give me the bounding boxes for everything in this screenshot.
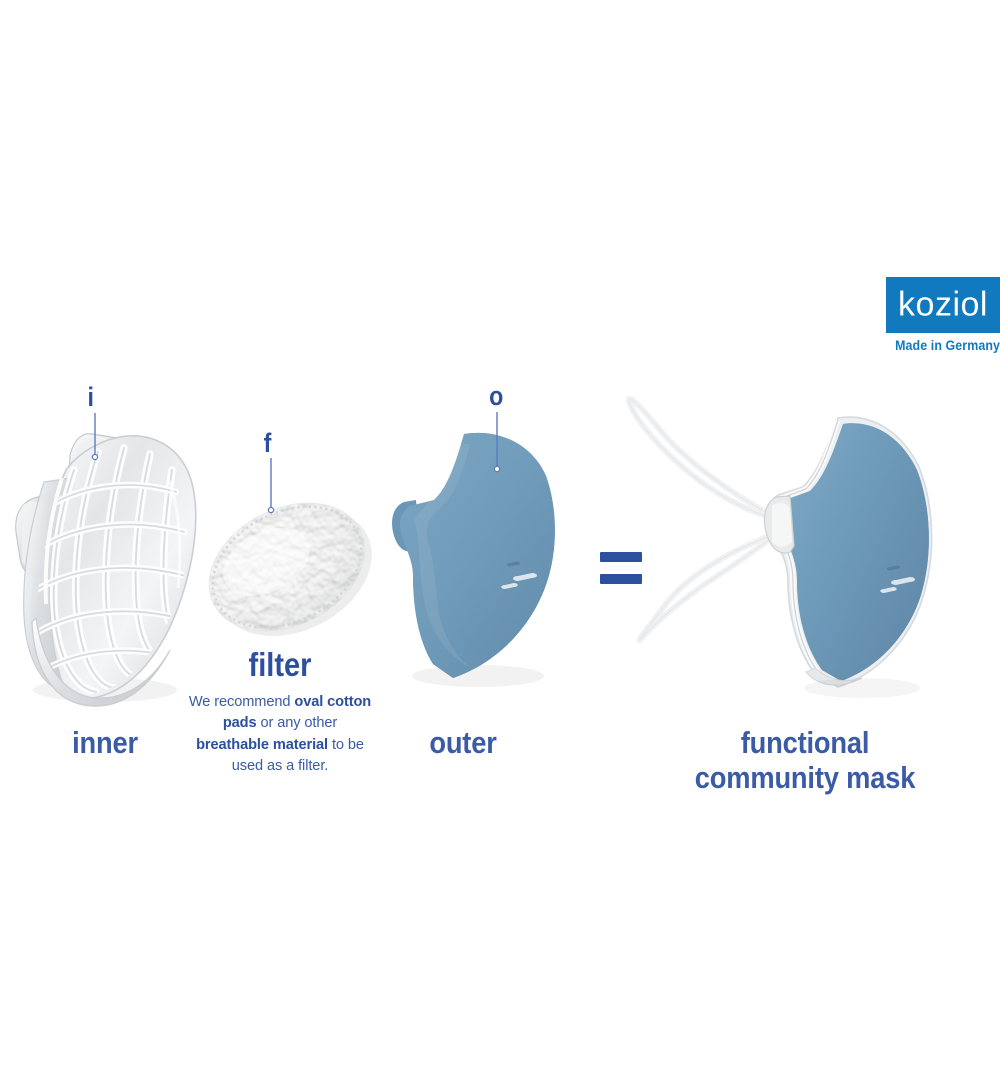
label-filter: filter [196, 648, 363, 683]
filter-desc-seg-3: or any other [257, 715, 338, 731]
brand-logo-box: koziol [886, 277, 1000, 333]
assembled-mask-art [629, 399, 932, 698]
inner-frame-art [16, 434, 196, 706]
ear-loops [629, 399, 780, 640]
label-result-line1: functional [660, 726, 950, 761]
equals-sign [600, 552, 642, 586]
brand-tagline: Made in Germany [895, 338, 1000, 353]
label-outer: outer [388, 726, 538, 761]
callout-marker-o: o [489, 383, 503, 410]
callout-marker-i: i [88, 384, 94, 411]
product-illustration [0, 0, 1000, 1082]
vent-slits-assembled [880, 566, 915, 594]
label-result: functional community mask [660, 726, 950, 795]
equals-bar-bottom [600, 574, 642, 584]
brand-logo: koziol Made in Germany [886, 277, 1000, 353]
callout-leaders [92, 412, 499, 513]
ear-loops-shade [629, 399, 780, 640]
equals-bar-top [600, 552, 642, 562]
diagram-canvas: koziol Made in Germany i f o inner filte… [0, 0, 1000, 1082]
leader-dot-f [268, 507, 273, 512]
outer-shell-art [392, 433, 555, 687]
callout-marker-f: f [264, 430, 272, 457]
label-inner: inner [30, 726, 180, 761]
leader-dot-o [494, 466, 499, 471]
label-result-line2: community mask [660, 761, 950, 796]
filter-description: We recommend oval cotton pads or any oth… [185, 692, 375, 778]
brand-name: koziol [886, 287, 1000, 321]
filter-desc-seg-4: breathable material [196, 737, 328, 753]
filter-pad-art [188, 476, 394, 663]
leader-dot-i [92, 454, 97, 459]
filter-desc-seg-1: We recommend [189, 694, 295, 710]
vent-slits [501, 562, 537, 590]
